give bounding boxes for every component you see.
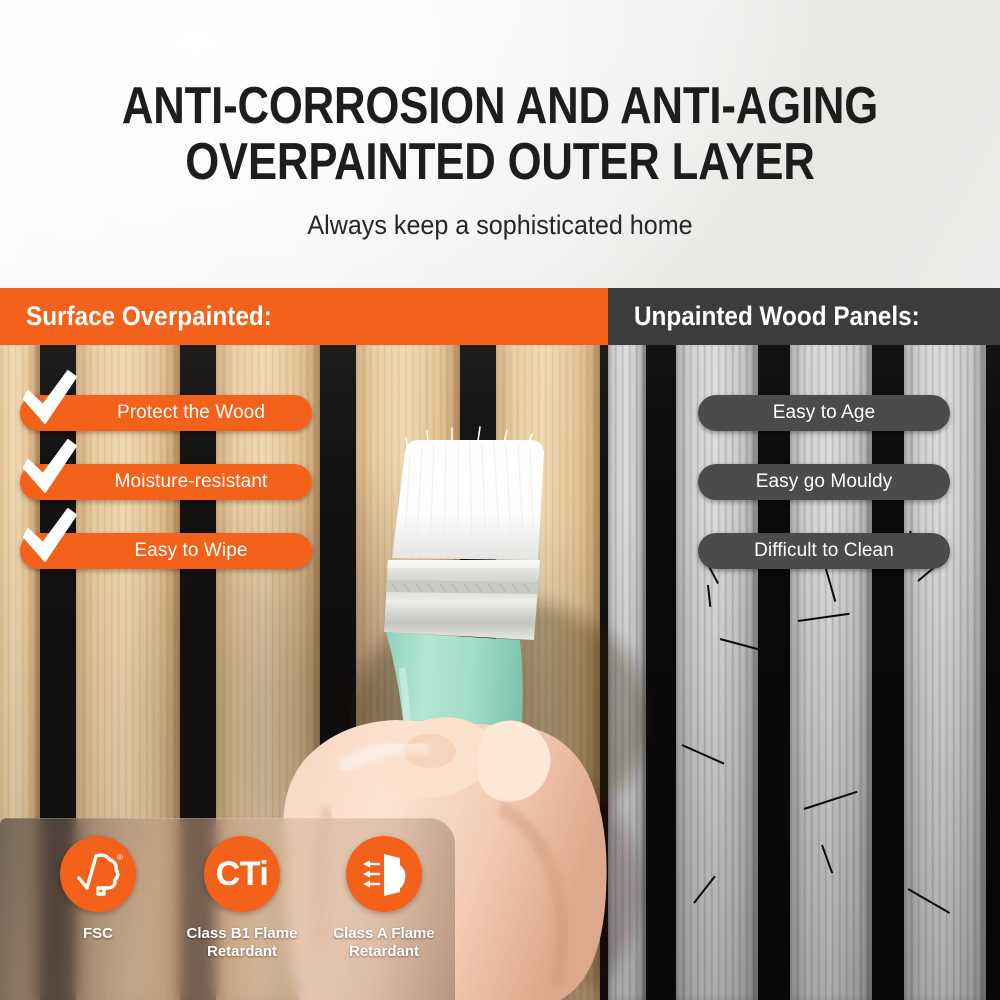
slat bbox=[608, 288, 646, 1000]
badge-circle: ® bbox=[60, 836, 136, 912]
benefit-pill[interactable]: Easy to Wipe bbox=[20, 533, 312, 569]
header-text-block: ANTI-CORROSION AND ANTI-AGING OVERPAINTE… bbox=[0, 0, 1000, 241]
slat bbox=[496, 288, 600, 1000]
drawback-pill-label: Easy go Mouldy bbox=[756, 471, 893, 493]
page-title: ANTI-CORROSION AND ANTI-AGING OVERPAINTE… bbox=[80, 0, 920, 190]
drawback-pill[interactable]: Easy go Mouldy bbox=[698, 464, 950, 500]
badge-label: Class A Flame Retardant bbox=[333, 925, 434, 960]
drawback-pill[interactable]: Easy to Age bbox=[698, 395, 950, 431]
badge-label: FSC bbox=[83, 925, 113, 943]
badge-flame-retardant[interactable]: Class A Flame Retardant bbox=[314, 836, 454, 960]
drawback-pill[interactable]: Difficult to Clean bbox=[698, 533, 950, 569]
badge-fsc[interactable]: ® FSC bbox=[28, 836, 168, 943]
drawback-pill-label: Easy to Age bbox=[773, 402, 876, 424]
benefit-pill-label: Protect the Wood bbox=[117, 402, 265, 424]
flame-retardant-panel-icon bbox=[359, 851, 409, 897]
badge-circle bbox=[346, 836, 422, 912]
fsc-tree-check-icon: ® bbox=[71, 847, 125, 901]
product-feature-image: ANTI-CORROSION AND ANTI-AGING OVERPAINTE… bbox=[0, 0, 1000, 1000]
header-section: ANTI-CORROSION AND ANTI-AGING OVERPAINTE… bbox=[0, 0, 1000, 288]
badge-label: Class B1 Flame Retardant bbox=[187, 925, 298, 960]
page-subtitle: Always keep a sophisticated home bbox=[35, 190, 965, 241]
benefit-pill-label: Moisture-resistant bbox=[115, 471, 268, 493]
benefit-pill[interactable]: Moisture-resistant bbox=[20, 464, 312, 500]
certification-badge-strip: ® FSC CTi Class B1 Flame Retardant bbox=[0, 818, 455, 1000]
comparison-section: Surface Overpainted: Unpainted Wood Pane… bbox=[0, 288, 1000, 1000]
benefit-pill-label: Easy to Wipe bbox=[134, 540, 247, 562]
painted-header-label: Surface Overpainted: bbox=[26, 301, 272, 332]
drawback-pill-label: Difficult to Clean bbox=[754, 540, 894, 562]
svg-text:®: ® bbox=[117, 853, 123, 862]
painted-header-bar: Surface Overpainted: bbox=[0, 288, 608, 345]
unpainted-header-bar: Unpainted Wood Panels: bbox=[608, 288, 1000, 345]
benefit-pill[interactable]: Protect the Wood bbox=[20, 395, 312, 431]
unpainted-header-label: Unpainted Wood Panels: bbox=[634, 301, 920, 332]
badge-cti[interactable]: CTi Class B1 Flame Retardant bbox=[172, 836, 312, 960]
cti-icon: CTi bbox=[204, 836, 280, 912]
certification-badge-row: ® FSC CTi Class B1 Flame Retardant bbox=[0, 818, 455, 1000]
